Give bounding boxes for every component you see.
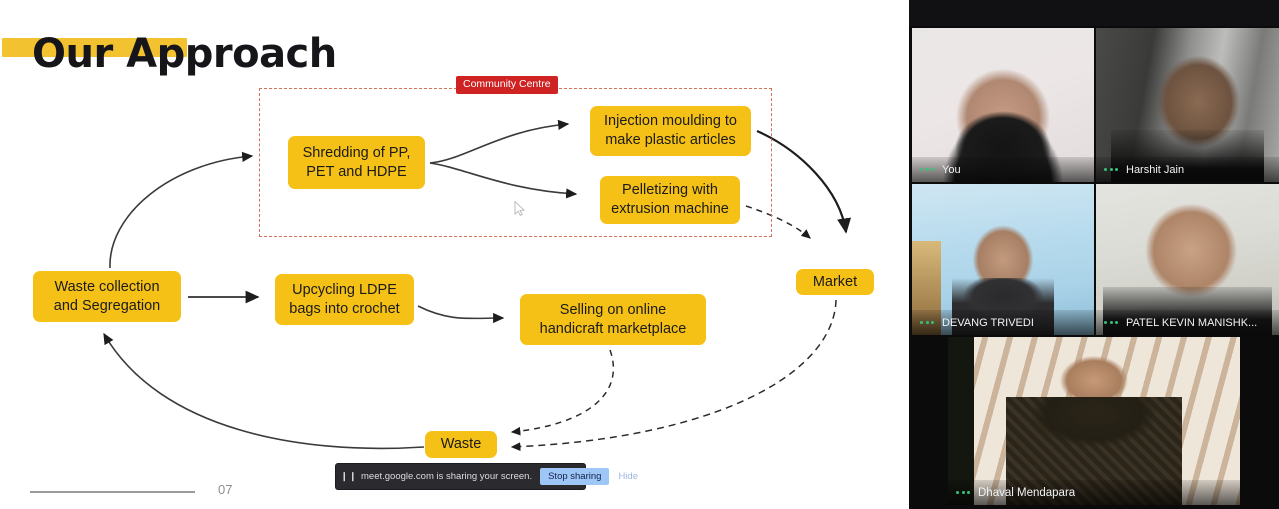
node-upcycling-ldpe: Upcycling LDPE bags into crochet (275, 274, 414, 325)
pause-icon[interactable]: ❙❙ (341, 471, 357, 482)
tile-name-bar: Dhaval Mendapara (948, 480, 1240, 505)
tile-name-bar: PATEL KEVIN MANISHK... (1096, 310, 1279, 335)
video-tile-devang-trivedi[interactable]: DEVANG TRIVEDI (912, 184, 1094, 335)
mouse-cursor-icon (514, 201, 525, 216)
video-tile-patel-kevin[interactable]: PATEL KEVIN MANISHK... (1096, 184, 1279, 335)
audio-level-dots-icon (920, 168, 934, 171)
share-message: meet.google.com is sharing your screen. (361, 471, 532, 482)
audio-level-dots-icon (956, 491, 970, 494)
audio-level-dots-icon (1104, 168, 1118, 171)
node-waste: Waste (425, 431, 497, 458)
node-selling-online: Selling on online handicraft marketplace (520, 294, 706, 345)
tile-name-bar: Harshit Jain (1096, 157, 1279, 182)
screen-share-notification-bar[interactable]: ❙❙ meet.google.com is sharing your scree… (336, 464, 585, 489)
node-waste-collection: Waste collection and Segregation (33, 271, 181, 322)
page-number: 07 (218, 482, 232, 497)
hide-button[interactable]: Hide (618, 471, 638, 482)
video-participants-panel: You Harshit Jain DEVANG TRIVEDI PATEL KE… (909, 0, 1279, 509)
tile-name-bar: You (912, 157, 1094, 182)
participant-name: DEVANG TRIVEDI (942, 317, 1034, 329)
footer-divider (30, 491, 195, 493)
stop-sharing-button[interactable]: Stop sharing (540, 468, 609, 485)
participant-name: You (942, 164, 961, 176)
participant-name: PATEL KEVIN MANISHK... (1126, 317, 1257, 329)
participant-name: Dhaval Mendapara (978, 487, 1075, 499)
video-tile-you[interactable]: You (912, 28, 1094, 182)
tile-name-bar: DEVANG TRIVEDI (912, 310, 1094, 335)
community-centre-label: Community Centre (456, 76, 558, 94)
participant-name: Harshit Jain (1126, 164, 1184, 176)
presentation-slide: Our Approach (0, 0, 909, 509)
audio-level-dots-icon (1104, 321, 1118, 324)
audio-level-dots-icon (920, 321, 934, 324)
node-injection-moulding: Injection moulding to make plastic artic… (590, 106, 751, 156)
node-shredding: Shredding of PP, PET and HDPE (288, 136, 425, 189)
screen-share-window: Our Approach (0, 0, 1279, 509)
video-tile-dhaval-mendapara[interactable]: Dhaval Mendapara (948, 337, 1240, 505)
panel-top-bar (909, 0, 1279, 26)
node-market: Market (796, 269, 874, 295)
video-tile-harshit-jain[interactable]: Harshit Jain (1096, 28, 1279, 182)
node-pelletizing: Pelletizing with extrusion machine (600, 176, 740, 224)
